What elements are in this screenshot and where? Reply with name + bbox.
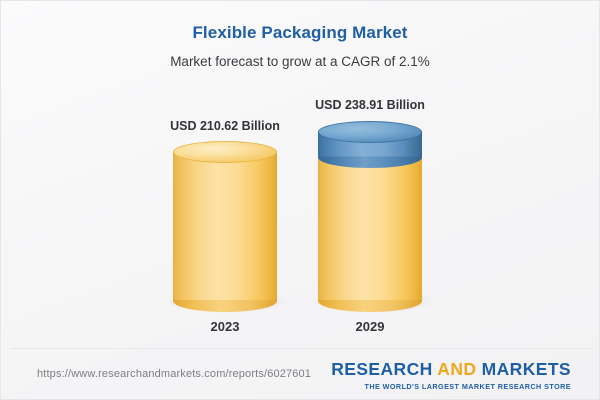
bar-cylinder-2029 [318, 121, 422, 301]
bar-category-label-2029: 2029 [280, 319, 460, 334]
bar-top-ellipse-2029 [318, 121, 422, 143]
footer-divider [11, 348, 591, 349]
logo-wordmark: RESEARCH AND MARKETS [331, 361, 571, 379]
bar-cylinder-2023 [173, 141, 277, 301]
chart-plot-area: USD 210.62 Billion 2023 USD 238.91 Billi… [1, 1, 600, 346]
bar-value-label-2029: USD 238.91 Billion [280, 98, 460, 112]
bar-top-ellipse-2023 [173, 141, 277, 163]
research-and-markets-logo[interactable]: RESEARCH AND MARKETS THE WORLD'S LARGEST… [331, 361, 571, 391]
logo-word-markets: MARKETS [482, 359, 571, 379]
logo-word-research: RESEARCH [331, 359, 432, 379]
bar-body-base-2029 [318, 156, 422, 301]
source-url[interactable]: https://www.researchandmarkets.com/repor… [37, 368, 311, 380]
logo-tagline: THE WORLD'S LARGEST MARKET RESEARCH STOR… [331, 382, 571, 391]
logo-word-and: AND [437, 359, 476, 379]
bar-value-label-2023: USD 210.62 Billion [135, 119, 315, 133]
bar-body-2023 [173, 152, 277, 301]
chart-canvas: Flexible Packaging Market Market forecas… [0, 0, 600, 400]
